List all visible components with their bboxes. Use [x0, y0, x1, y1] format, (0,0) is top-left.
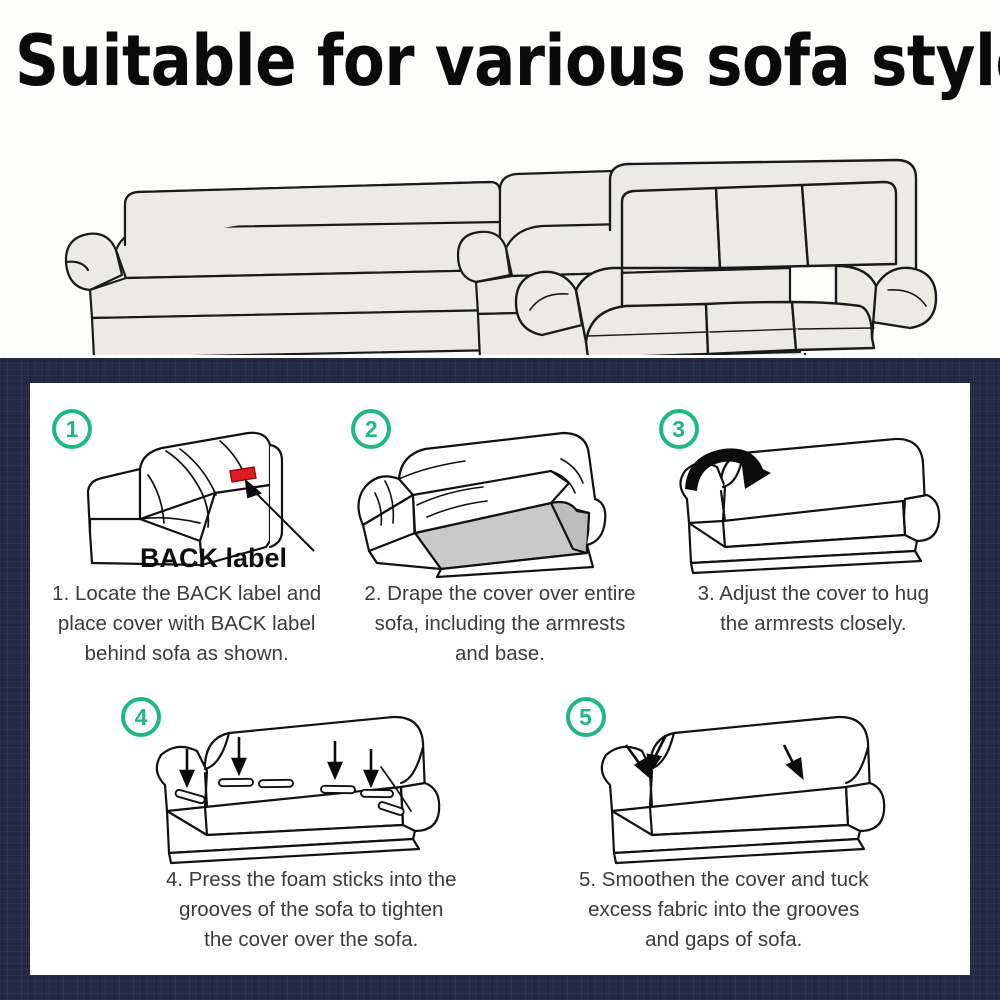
- step-2-illustration: [355, 421, 635, 596]
- step-3: 3: [657, 391, 970, 681]
- hero-section: Suitable for various sofa styles: [0, 0, 1000, 358]
- instruction-frame: 1: [0, 358, 1000, 1000]
- step-2: 2: [343, 391, 656, 681]
- hero-sofa-illustration: [30, 110, 970, 355]
- infographic-page: Suitable for various sofa styles: [0, 0, 1000, 1000]
- row-spacer-left: [30, 695, 105, 967]
- step-5-illustration: [580, 707, 900, 872]
- step-1-caption: 1. Locate the BACK label and place cover…: [30, 579, 343, 669]
- steps-row-top: 1: [30, 391, 970, 681]
- steps-row-bottom: 4: [30, 695, 970, 967]
- instruction-panel: 1: [30, 383, 970, 975]
- step-5: 5: [518, 695, 931, 967]
- step-1: 1: [30, 391, 343, 681]
- step-4-illustration: [135, 707, 455, 872]
- step-5-caption: 5. Smoothen the cover and tuck excess fa…: [518, 865, 931, 955]
- step-2-caption: 2. Drape the cover over entire sofa, inc…: [343, 579, 656, 669]
- page-title: Suitable for various sofa styles: [15, 22, 985, 100]
- step-4-caption: 4. Press the foam sticks into the groove…: [105, 865, 518, 955]
- row-spacer-right: [930, 695, 970, 967]
- step-3-illustration: [659, 425, 949, 590]
- step-4: 4: [105, 695, 518, 967]
- back-label-text: BACK label: [140, 543, 287, 574]
- step-3-caption: 3. Adjust the cover to hug the armrests …: [657, 579, 970, 639]
